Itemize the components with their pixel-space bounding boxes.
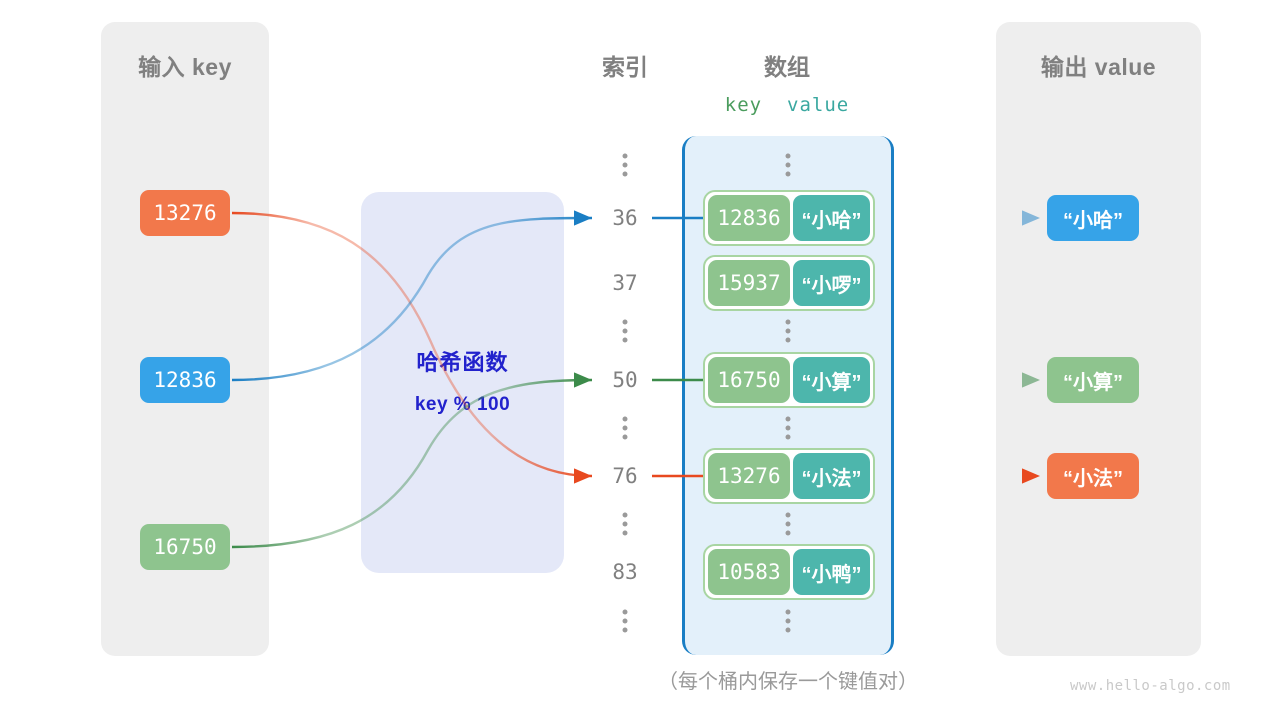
index-ellipsis-3 <box>623 513 628 536</box>
index-column-heading: 索引 <box>565 48 685 82</box>
input-key-badge[interactable]: 16750 <box>140 524 230 570</box>
bucket-value: “小法” <box>793 453 870 499</box>
bucket-row[interactable]: 16750 “小算” <box>703 352 875 408</box>
output-value-badge[interactable]: “小算” <box>1047 357 1139 403</box>
hash-function-box: 哈希函数 key % 100 <box>361 192 564 573</box>
array-ellipsis-bottom <box>786 610 791 633</box>
diagram-caption: （每个桶内保存一个键值对） <box>588 665 988 694</box>
bucket-value: “小鸭” <box>793 549 870 595</box>
bucket-key: 13276 <box>708 453 790 499</box>
index-ellipsis-2 <box>623 417 628 440</box>
watermark: www.hello-algo.com <box>1070 678 1231 694</box>
input-key-badge[interactable]: 13276 <box>140 190 230 236</box>
index-column: 36 37 50 76 83 <box>592 136 658 655</box>
value-column-label: value <box>787 94 849 116</box>
key-column-label: key <box>725 94 762 116</box>
hash-function-title: 哈希函数 <box>361 345 564 377</box>
index-label-83: 83 <box>592 560 658 584</box>
output-panel-title: 输出 value <box>996 48 1201 82</box>
index-label-50: 50 <box>592 368 658 392</box>
index-label-37: 37 <box>592 271 658 295</box>
hash-map-diagram: 输入 key 输出 value 索引 数组 key value 哈希函数 key… <box>0 0 1280 720</box>
bucket-row[interactable]: 13276 “小法” <box>703 448 875 504</box>
bucket-key: 12836 <box>708 195 790 241</box>
bucket-row[interactable]: 10583 “小鸭” <box>703 544 875 600</box>
hash-function-expression: key % 100 <box>361 394 564 416</box>
index-ellipsis-1 <box>623 320 628 343</box>
output-value-badge[interactable]: “小法” <box>1047 453 1139 499</box>
input-panel-title: 输入 key <box>101 48 269 82</box>
bucket-key: 15937 <box>708 260 790 306</box>
index-label-36: 36 <box>592 206 658 230</box>
output-value-badge[interactable]: “小哈” <box>1047 195 1139 241</box>
key-value-column-heading: key value <box>690 94 884 116</box>
index-label-76: 76 <box>592 464 658 488</box>
array-column-heading: 数组 <box>727 48 847 82</box>
bucket-value: “小哈” <box>793 195 870 241</box>
array-ellipsis-2 <box>786 417 791 440</box>
bucket-value: “小啰” <box>793 260 870 306</box>
bucket-row[interactable]: 15937 “小啰” <box>703 255 875 311</box>
array-ellipsis-top <box>786 154 791 177</box>
array-ellipsis-3 <box>786 513 791 536</box>
bucket-row[interactable]: 12836 “小哈” <box>703 190 875 246</box>
bucket-key: 10583 <box>708 549 790 595</box>
bucket-key: 16750 <box>708 357 790 403</box>
array-ellipsis-1 <box>786 320 791 343</box>
output-value-panel: 输出 value <box>996 22 1201 656</box>
index-ellipsis-top <box>623 154 628 177</box>
input-key-badge[interactable]: 12836 <box>140 357 230 403</box>
bucket-value: “小算” <box>793 357 870 403</box>
index-ellipsis-bottom <box>623 610 628 633</box>
